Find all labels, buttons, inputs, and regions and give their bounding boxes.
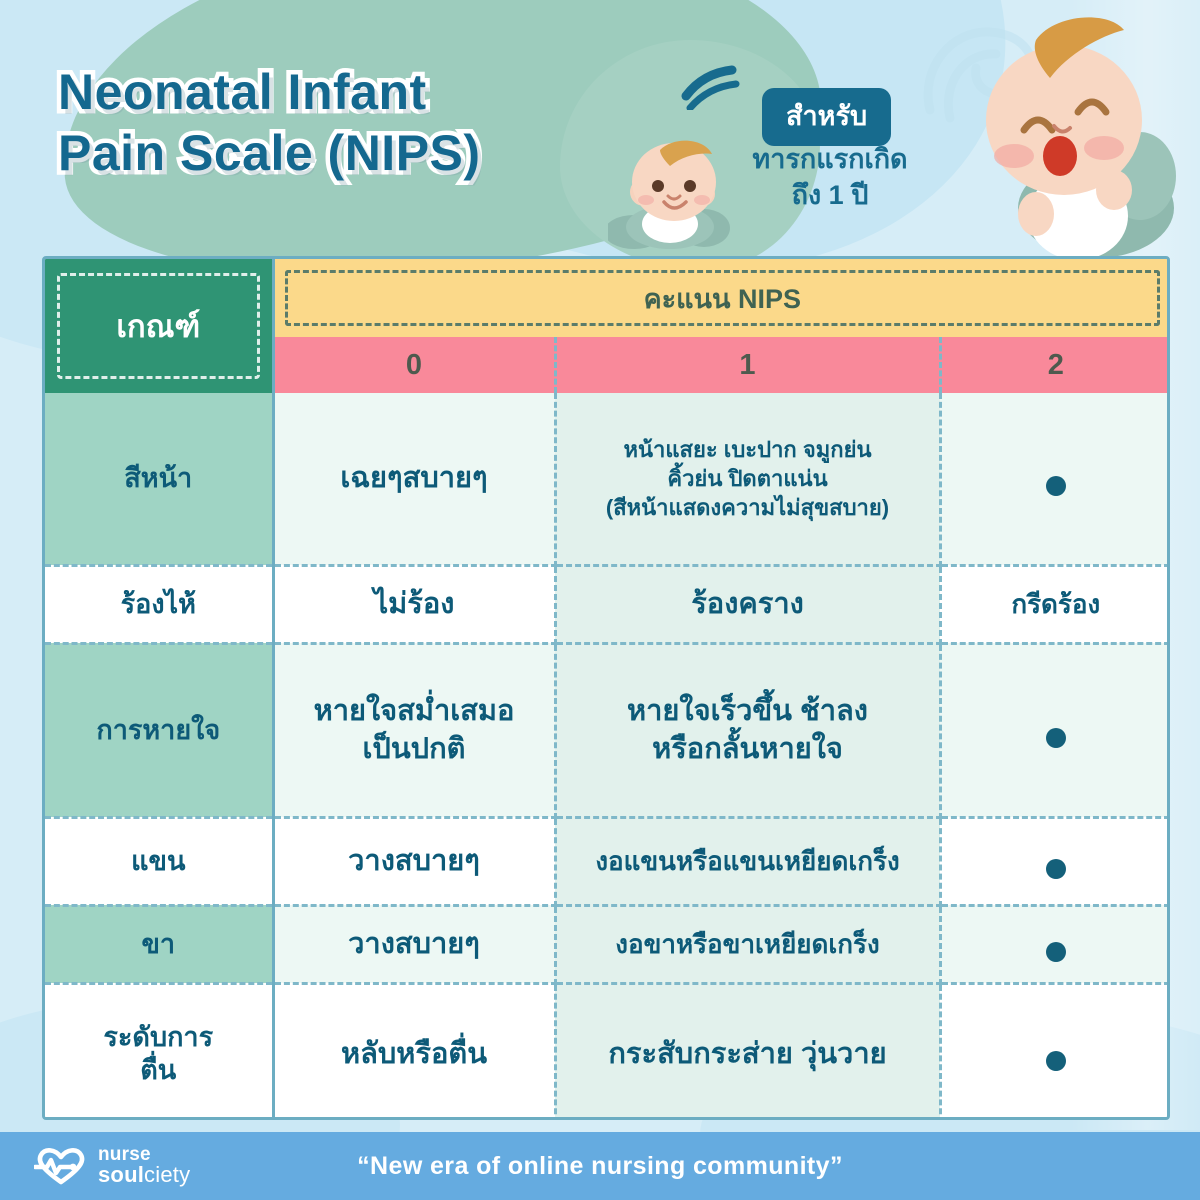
smiling-baby-illustration-icon (608, 128, 740, 254)
row-0-score-1: หน้าแสยะ เบะปาก จมูกย่น คิ้วย่น ปิดตาแน่… (555, 393, 940, 565)
row-label-crying: ร้องไห้ (45, 565, 273, 643)
row-2-score-1: หายใจเร็วขึ้น ช้าลง หรือกลั้นหายใจ (555, 643, 940, 817)
table-row: สีหน้า เฉยๆสบายๆ หน้าแสยะ เบะปาก จมูกย่น… (45, 393, 1170, 565)
score-dot-icon (1046, 728, 1066, 748)
score-dot-icon (1046, 859, 1066, 879)
row-0-score-2 (940, 393, 1170, 565)
score-column-header-2: 2 (940, 337, 1170, 393)
table-row: แขน วางสบายๆ งอแขนหรือแขนเหยียดเกร็ง (45, 817, 1170, 905)
row-2-score-2 (940, 643, 1170, 817)
row-label-arousal-level: ระดับการ ตื่น (45, 983, 273, 1120)
header: Neonatal Infant Pain Scale (NIPS) สำหรับ… (0, 0, 1200, 250)
infographic-page: Neonatal Infant Pain Scale (NIPS) สำหรับ… (0, 0, 1200, 1200)
criteria-header-cell: เกณฑ์ (45, 259, 273, 393)
score-dot-icon (1046, 476, 1066, 496)
table-row: ขา วางสบายๆ งอขาหรือขาเหยียดเกร็ง (45, 905, 1170, 983)
score-dot-icon (1046, 942, 1066, 962)
score-column-header-1: 1 (555, 337, 940, 393)
row-2-score-0: หายใจสม่ำเสมอ เป็นปกติ (273, 643, 555, 817)
score-dot-icon (1046, 1051, 1066, 1071)
table-banner-row: เกณฑ์ คะแนน NIPS (45, 259, 1170, 337)
criteria-header-label: เกณฑ์ (57, 273, 260, 379)
row-3-score-2 (940, 817, 1170, 905)
page-title: Neonatal Infant Pain Scale (NIPS) (58, 62, 481, 184)
row-label-arms: แขน (45, 817, 273, 905)
row-5-score-0: หลับหรือตื่น (273, 983, 555, 1120)
row-1-score-2: กรีดร้อง (940, 565, 1170, 643)
row-0-score-0: เฉยๆสบายๆ (273, 393, 555, 565)
nips-table-grid: เกณฑ์ คะแนน NIPS 0 1 2 สีหน้า เฉยๆสบายๆ (45, 259, 1170, 1120)
crying-baby-illustration-icon (928, 8, 1196, 256)
row-label-facial-expression: สีหน้า (45, 393, 273, 565)
row-5-score-1: กระสับกระส่าย วุ่นวาย (555, 983, 940, 1120)
row-5-score-2 (940, 983, 1170, 1120)
row-3-score-1: งอแขนหรือแขนเหยียดเกร็ง (555, 817, 940, 905)
table-row: ร้องไห้ ไม่ร้อง ร้องคราง กรีดร้อง (45, 565, 1170, 643)
score-banner-cell: คะแนน NIPS (273, 259, 1170, 337)
motion-lines-icon (680, 62, 740, 110)
row-1-score-0: ไม่ร้อง (273, 565, 555, 643)
nips-table: เกณฑ์ คะแนน NIPS 0 1 2 สีหน้า เฉยๆสบายๆ (42, 256, 1170, 1120)
footer: nurse soulciety “New era of online nursi… (0, 1132, 1200, 1200)
row-label-breathing: การหายใจ (45, 643, 273, 817)
score-column-header-0: 0 (273, 337, 555, 393)
score-banner-label: คะแนน NIPS (285, 270, 1161, 326)
table-row: ระดับการ ตื่น หลับหรือตื่น กระสับกระส่าย… (45, 983, 1170, 1120)
row-label-legs: ขา (45, 905, 273, 983)
audience-badge: สำหรับ (762, 88, 891, 146)
footer-tagline: “New era of online nursing community” (0, 1152, 1200, 1181)
row-4-score-1: งอขาหรือขาเหยียดเกร็ง (555, 905, 940, 983)
row-4-score-0: วางสบายๆ (273, 905, 555, 983)
table-row: การหายใจ หายใจสม่ำเสมอ เป็นปกติ หายใจเร็… (45, 643, 1170, 817)
row-1-score-1: ร้องคราง (555, 565, 940, 643)
row-4-score-2 (940, 905, 1170, 983)
row-3-score-0: วางสบายๆ (273, 817, 555, 905)
